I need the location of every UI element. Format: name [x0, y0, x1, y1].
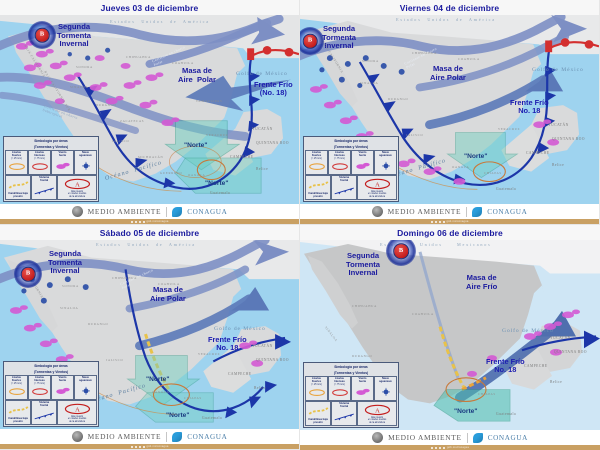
forecast-panel-jueves[interactable]: Jueves 03 de diciembre: [0, 0, 300, 225]
agency-label: CONAGUA: [187, 433, 227, 441]
svg-text:A: A: [375, 407, 380, 414]
blue-cold-front-icon: [333, 409, 356, 425]
legend-cell-lluvias-intensas[interactable]: Lluvias Intensas (> 75 mm): [328, 150, 351, 175]
twitter-icon[interactable]: [435, 221, 437, 223]
footer-divider: [166, 432, 167, 442]
legend-cell-alta-presion[interactable]: A Alta presión en niveles medios de la a…: [357, 175, 397, 200]
agency-label: CONAGUA: [187, 208, 227, 216]
snowflake-icon: [376, 158, 396, 174]
conagua-water-drop-icon: [172, 207, 182, 217]
orange-ellipse-icon: [307, 386, 327, 399]
twitter-icon[interactable]: [135, 221, 137, 223]
legend-cell-lluvias-fuertes[interactable]: Lluvias Fuertes (> 25 mm): [305, 150, 328, 175]
footer-url[interactable]: gob.mx/conagua: [147, 220, 169, 223]
snowflake-icon: [76, 158, 96, 174]
footer-social-strip: gob.mx/conagua: [0, 444, 299, 449]
legend-cell-lluvias-fuertes[interactable]: Lluvias Fuertes (> 25 mm): [305, 376, 328, 401]
conagua-water-drop-icon: [472, 207, 482, 217]
legend-cell-alta-presion[interactable]: A Alta presión en niveles medios de la a…: [357, 401, 397, 426]
svg-text:A: A: [375, 181, 380, 188]
conagua-water-drop-icon: [172, 432, 182, 442]
footer-social-strip: gob.mx/conagua: [300, 219, 599, 224]
legend-cells: Lluvias Fuertes (> 25 mm) Lluvias Intens…: [5, 150, 97, 200]
agency-label: CONAGUA: [488, 434, 528, 442]
low-pressure-b-symbol: B: [300, 27, 324, 55]
blue-cold-front-icon: [33, 183, 56, 199]
svg-text:A: A: [75, 406, 80, 413]
youtube-icon[interactable]: [143, 446, 145, 448]
page-title: Jueves 03 de diciembre: [101, 3, 199, 13]
legend-cell-canal-baja-presion[interactable]: Canal/línea baja presión: [305, 175, 331, 200]
instagram-icon[interactable]: [139, 446, 141, 448]
youtube-icon[interactable]: [143, 221, 145, 223]
legend-cells: Lluvias Fuertes (> 25 mm) Lluvias Intens…: [305, 376, 397, 426]
instagram-icon[interactable]: [139, 221, 141, 223]
page-title: Viernes 04 de diciembre: [400, 3, 499, 13]
legend-cells: Lluvias Fuertes (> 25 mm) Lluvias Intens…: [305, 150, 397, 200]
legend-cell-lluvias-intensas[interactable]: Lluvias Intensas (> 75 mm): [28, 150, 51, 175]
legend-cell-nieve-aguanieve[interactable]: Nieve aguanieve: [74, 150, 97, 175]
snowflake-icon: [76, 383, 96, 399]
magenta-wind-icon: [53, 383, 73, 399]
snowflake-icon: [376, 384, 396, 400]
page-title: Sábado 05 de diciembre: [100, 228, 200, 238]
legend-cell-nieve-aguanieve[interactable]: Nieve aguanieve: [74, 375, 97, 400]
legend-cell-lluvias-intensas[interactable]: Lluvias Intensas (> 75 mm): [328, 376, 351, 401]
ministry-label: MEDIO AMBIENTE: [388, 207, 462, 216]
footer-url[interactable]: gob.mx/conagua: [447, 220, 469, 223]
legend-cell-alta-presion[interactable]: A Alta presión en niveles medios de la a…: [57, 175, 97, 200]
legend-cell-nieve-aguanieve[interactable]: Nieve aguanieve: [374, 150, 397, 175]
low-pressure-b-symbol: B: [28, 21, 56, 49]
facebook-icon[interactable]: [131, 221, 133, 223]
mexican-government-seal-icon: [372, 206, 383, 217]
panel-title-bar: Jueves 03 de diciembre: [0, 0, 299, 15]
legend-cells: Lluvias Fuertes (> 25 mm) Lluvias Intens…: [5, 375, 97, 425]
ministry-label: MEDIO AMBIENTE: [388, 433, 462, 442]
legend-cell-nieve-aguanieve[interactable]: Nieve aguanieve: [374, 376, 397, 401]
forecast-panel-grid: Jueves 03 de diciembre: [0, 0, 600, 450]
magenta-wind-icon: [53, 158, 73, 174]
facebook-icon[interactable]: [431, 447, 433, 449]
yellow-dashed-trough-icon: [307, 403, 330, 419]
yellow-dashed-trough-icon: [7, 402, 30, 418]
low-pressure-b-symbol: B: [386, 240, 416, 266]
legend-cell-sistema-frontal[interactable]: Sistema frontal: [31, 400, 57, 425]
mexican-government-seal-icon: [372, 432, 383, 443]
ministry-label: MEDIO AMBIENTE: [88, 432, 162, 441]
legend-cell-viento-fuerte[interactable]: Viento fuerte: [51, 375, 74, 400]
panel-title-bar: Sábado 05 de diciembre: [0, 225, 299, 240]
legend-cell-sistema-frontal[interactable]: Sistema frontal: [331, 175, 357, 200]
legend-cell-lluvias-fuertes[interactable]: Lluvias Fuertes (> 25 mm): [5, 375, 28, 400]
legend-cell-lluvias-intensas[interactable]: Lluvias Intensas (> 75 mm): [28, 375, 51, 400]
legend-title: Simbología por áreas (Tormentas y Viento…: [5, 138, 97, 150]
page-title: Domingo 06 de diciembre: [397, 228, 503, 238]
low-pressure-b-symbol: B: [14, 260, 42, 288]
facebook-icon[interactable]: [131, 446, 133, 448]
panel-footer: MEDIO AMBIENTE CONAGUA gob.mx/conagua: [300, 430, 600, 450]
footer-divider: [466, 207, 467, 217]
blue-cold-front-icon: [33, 408, 56, 424]
legend-cell-viento-fuerte[interactable]: Viento fuerte: [51, 150, 74, 175]
red-high-pressure-icon: A: [359, 177, 396, 191]
map-legend[interactable]: Simbología por áreas (Tormentas y Viento…: [303, 136, 399, 202]
map-legend[interactable]: Simbología por áreas (Tormentas y Viento…: [3, 361, 99, 427]
legend-cell-canal-baja-presion[interactable]: Canal/línea baja presión: [5, 175, 31, 200]
forecast-panel-viernes[interactable]: Viernes 04 de diciembre: [300, 0, 600, 225]
panel-title-bar: Viernes 04 de diciembre: [300, 0, 599, 15]
panel-footer: MEDIO AMBIENTE CONAGUA gob.mx/conagua: [300, 204, 599, 224]
red-high-pressure-icon: A: [59, 177, 96, 191]
conagua-water-drop-icon: [473, 433, 483, 443]
legend-cell-sistema-frontal[interactable]: Sistema frontal: [331, 401, 357, 426]
orange-ellipse-icon: [7, 160, 27, 173]
panel-footer: MEDIO AMBIENTE CONAGUA gob.mx/conagua: [0, 204, 299, 224]
map-legend[interactable]: Simbología por áreas (Tormentas y Viento…: [303, 362, 399, 428]
forecast-panel-sabado[interactable]: Sábado 05 de diciembre: [0, 225, 300, 450]
map-legend[interactable]: Simbología por áreas (Tormentas y Viento…: [3, 136, 99, 202]
magenta-wind-icon: [353, 384, 373, 400]
mexican-government-seal-icon: [72, 206, 83, 217]
red-high-pressure-icon: A: [359, 403, 396, 417]
blue-cold-front-icon: [333, 183, 356, 199]
footer-social-strip: gob.mx/conagua: [300, 445, 600, 450]
twitter-icon[interactable]: [135, 446, 137, 448]
red-ellipse-icon: [330, 160, 350, 173]
weather-map-viernes[interactable]: Estados Unidos de América B Segunda Torm…: [300, 15, 599, 204]
orange-ellipse-icon: [7, 385, 27, 398]
weather-map-sabado[interactable]: Estados Unidos de América B Segunda Torm…: [0, 240, 299, 429]
instagram-icon[interactable]: [439, 447, 441, 449]
red-high-pressure-icon: A: [59, 402, 96, 416]
red-ellipse-icon: [30, 385, 50, 398]
facebook-icon[interactable]: [431, 221, 433, 223]
orange-ellipse-icon: [307, 160, 327, 173]
youtube-icon[interactable]: [443, 447, 445, 449]
legend-cell-viento-fuerte[interactable]: Viento fuerte: [351, 150, 374, 175]
panel-footer: MEDIO AMBIENTE CONAGUA gob.mx/conagua: [0, 429, 299, 449]
footer-url[interactable]: gob.mx/conagua: [447, 446, 469, 449]
youtube-icon[interactable]: [443, 221, 445, 223]
ministry-label: MEDIO AMBIENTE: [88, 207, 162, 216]
weather-map-domingo[interactable]: Estados Unidos Mexicanos B Segunda Torme…: [300, 240, 600, 430]
legend-cell-canal-baja-presion[interactable]: Canal/línea baja presión: [5, 400, 31, 425]
panel-title-bar: Domingo 06 de diciembre: [300, 225, 600, 240]
forecast-panel-domingo[interactable]: Domingo 06 de diciembre: [300, 225, 600, 450]
svg-text:A: A: [75, 181, 80, 188]
legend-cell-viento-fuerte[interactable]: Viento fuerte: [351, 376, 374, 401]
magenta-wind-icon: [353, 158, 373, 174]
agency-label: CONAGUA: [487, 208, 527, 216]
weather-map-jueves[interactable]: Estados Unidos de América B Segunda Torm…: [0, 15, 299, 204]
mexican-government-seal-icon: [72, 431, 83, 442]
yellow-dashed-trough-icon: [7, 177, 30, 193]
legend-cell-canal-baja-presion[interactable]: Canal/línea baja presión: [305, 401, 331, 426]
legend-title: Simbología por áreas (Tormentas y Viento…: [305, 138, 397, 150]
yellow-dashed-trough-icon: [307, 177, 330, 193]
red-ellipse-icon: [30, 160, 50, 173]
footer-divider: [166, 207, 167, 217]
footer-divider: [467, 433, 468, 443]
legend-title: Simbología por áreas (Tormentas y Viento…: [5, 363, 97, 375]
legend-cell-lluvias-fuertes[interactable]: Lluvias Fuertes (> 25 mm): [5, 150, 28, 175]
legend-cell-alta-presion[interactable]: A Alta presión en niveles medios de la a…: [57, 400, 97, 425]
instagram-icon[interactable]: [439, 221, 441, 223]
twitter-icon[interactable]: [435, 447, 437, 449]
legend-cell-sistema-frontal[interactable]: Sistema frontal: [31, 175, 57, 200]
red-ellipse-icon: [330, 386, 350, 399]
footer-url[interactable]: gob.mx/conagua: [147, 445, 169, 448]
footer-social-strip: gob.mx/conagua: [0, 219, 299, 224]
legend-title: Simbología por áreas (Tormentas y Viento…: [305, 364, 397, 376]
